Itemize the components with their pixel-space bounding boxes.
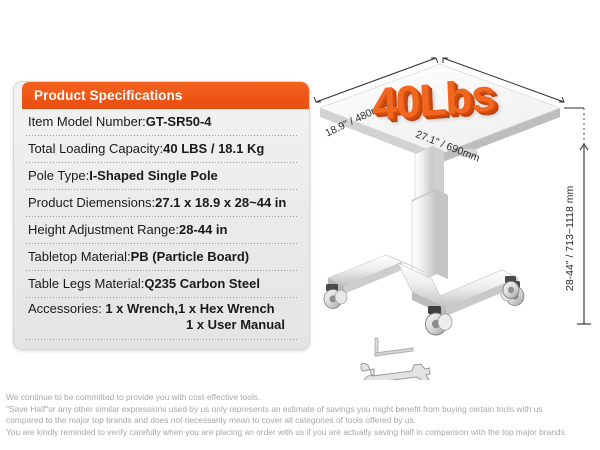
spec-label: Product Diemensions: <box>28 195 155 211</box>
spec-value: Q235 Carbon Steel <box>144 276 260 292</box>
spec-label: Pole Type: <box>28 168 89 184</box>
spec-value: I-Shaped Single Pole <box>89 168 218 184</box>
spec-row-item-model-number: Item Model Number: GT-SR50-4 <box>14 109 310 136</box>
spec-label: Accessories: <box>28 301 105 316</box>
desk-drawing <box>312 50 600 380</box>
spec-panel-title: Product Specifications <box>34 88 182 103</box>
spec-row-table-legs-material: Table Legs Material: Q235 Carbon Steel <box>14 271 310 298</box>
spec-label: Tabletop Material: <box>28 249 131 265</box>
spec-value: GT-SR50-4 <box>146 114 212 130</box>
spec-row-height-adjustment-range: Height Adjustment Range: 28-44 in <box>14 217 310 244</box>
spec-row-total-loading-capacity: Total Loading Capacity: 40 LBS / 18.1 Kg <box>14 136 310 163</box>
product-spec-page: Product Specifications Item Model Number… <box>0 0 600 450</box>
spec-row-product-dimensions: Product Diemensions: 27.1 x 18.9 x 28~44… <box>14 190 310 217</box>
product-specifications-panel: Product Specifications Item Model Number… <box>13 81 310 350</box>
spec-panel-header: Product Specifications <box>22 82 310 109</box>
spec-label: Total Loading Capacity: <box>28 141 163 157</box>
spec-label: Item Model Number: <box>28 114 146 130</box>
disclaimer-line-2: "Save Half"or any other similar expressi… <box>6 404 596 416</box>
disclaimer-line-1: We continue to be committed to provide y… <box>6 392 596 404</box>
disclaimer-line-3: compared to the major top brands and doe… <box>6 415 596 427</box>
single-pole <box>412 146 448 285</box>
spec-row-tabletop-material: Tabletop Material: PB (Particle Board) <box>14 244 310 271</box>
spec-rows-list: Item Model Number: GT-SR50-4 Total Loadi… <box>14 109 310 340</box>
spec-value: 1 x Wrench,1 x Hex Wrench <box>105 301 274 316</box>
hex-wrench-icon <box>375 338 413 356</box>
spec-value: 28-44 in <box>179 222 227 238</box>
spec-row-pole-type: Pole Type: I-Shaped Single Pole <box>14 163 310 190</box>
spec-label: Height Adjustment Range: <box>28 222 179 238</box>
spec-value: 40 LBS / 18.1 Kg <box>163 141 264 157</box>
disclaimer-text: We continue to be committed to provide y… <box>6 392 596 438</box>
wrench-icon <box>361 363 430 380</box>
product-illustration: 18.9" / 480mm 27.1" / 690mm 28-44" / 713… <box>312 50 600 380</box>
spec-accessories-line-2: 1 x User Manual <box>186 317 303 333</box>
spec-label: Table Legs Material: <box>28 276 144 292</box>
dimension-label-height: 28-44" / 713~1118 mm <box>564 186 576 291</box>
spec-accessories-line-1: Accessories: 1 x Wrench,1 x Hex Wrench <box>28 301 275 317</box>
spec-row-accessories: Accessories: 1 x Wrench,1 x Hex Wrench 1… <box>14 298 310 340</box>
disclaimer-line-4: You are kindly reminded to verify carefu… <box>6 427 596 439</box>
spec-value: 27.1 x 18.9 x 28~44 in <box>155 195 286 211</box>
spec-value: PB (Particle Board) <box>131 249 249 265</box>
